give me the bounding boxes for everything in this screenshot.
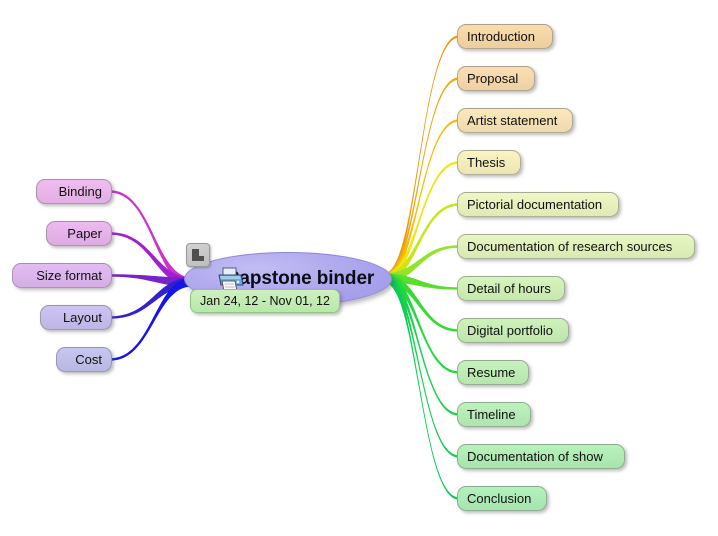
note-corner-glyph bbox=[191, 248, 205, 262]
branch-connector bbox=[110, 190, 192, 286]
branch-node-left[interactable]: Binding bbox=[36, 179, 112, 204]
branch-connector bbox=[384, 274, 459, 374]
branch-connector bbox=[384, 77, 459, 282]
branch-connector bbox=[384, 203, 459, 282]
branch-connector bbox=[110, 232, 192, 286]
branch-node-label: Layout bbox=[63, 311, 102, 324]
branch-node-left[interactable]: Cost bbox=[56, 347, 112, 372]
mindmap-canvas: Capstone binder Jan 24, 12 - Nov 01, 12 … bbox=[0, 0, 718, 536]
branch-connector bbox=[384, 274, 459, 416]
branch-node-label: Resume bbox=[467, 366, 515, 379]
branch-node-left[interactable]: Paper bbox=[46, 221, 112, 246]
branch-connector bbox=[110, 278, 192, 319]
printer-icon bbox=[215, 265, 245, 292]
branch-node-label: Size format bbox=[36, 269, 102, 282]
branch-node-right[interactable]: Documentation of show bbox=[457, 444, 625, 469]
branch-node-label: Pictorial documentation bbox=[467, 198, 602, 211]
branch-node-right[interactable]: Pictorial documentation bbox=[457, 192, 619, 217]
branch-connector bbox=[384, 35, 459, 282]
branch-connector bbox=[384, 274, 459, 332]
branch-node-label: Introduction bbox=[467, 30, 535, 43]
note-badge-icon[interactable] bbox=[186, 243, 210, 267]
branch-node-right[interactable]: Artist statement bbox=[457, 108, 573, 133]
branch-node-label: Documentation of show bbox=[467, 450, 603, 463]
branch-node-label: Conclusion bbox=[467, 492, 531, 505]
branch-node-label: Proposal bbox=[467, 72, 518, 85]
branch-node-label: Thesis bbox=[467, 156, 505, 169]
branch-connector bbox=[110, 278, 192, 361]
branch-node-label: Documentation of research sources bbox=[467, 240, 672, 253]
branch-connector bbox=[384, 274, 459, 500]
branch-node-label: Detail of hours bbox=[467, 282, 551, 295]
branch-node-right[interactable]: Conclusion bbox=[457, 486, 547, 511]
branch-node-right[interactable]: Detail of hours bbox=[457, 276, 565, 301]
branch-connector bbox=[384, 274, 459, 458]
central-node-title: Capstone binder bbox=[226, 268, 374, 290]
branch-node-label: Timeline bbox=[467, 408, 516, 421]
branch-connector bbox=[384, 161, 459, 282]
branch-node-right[interactable]: Thesis bbox=[457, 150, 521, 175]
branch-node-left[interactable]: Size format bbox=[12, 263, 112, 288]
branch-node-label: Binding bbox=[59, 185, 102, 198]
branch-node-label: Cost bbox=[75, 353, 102, 366]
branch-node-right[interactable]: Proposal bbox=[457, 66, 535, 91]
branch-connector bbox=[384, 245, 459, 282]
branch-node-right[interactable]: Resume bbox=[457, 360, 529, 385]
branch-node-right[interactable]: Documentation of research sources bbox=[457, 234, 695, 259]
branch-node-right[interactable]: Introduction bbox=[457, 24, 553, 49]
central-date-label[interactable]: Jan 24, 12 - Nov 01, 12 bbox=[190, 289, 340, 313]
branch-node-left[interactable]: Layout bbox=[40, 305, 112, 330]
branch-node-label: Artist statement bbox=[467, 114, 557, 127]
branch-node-right[interactable]: Timeline bbox=[457, 402, 531, 427]
branch-connector bbox=[384, 119, 459, 282]
branch-node-right[interactable]: Digital portfolio bbox=[457, 318, 569, 343]
branch-connector bbox=[384, 274, 459, 290]
branch-connector bbox=[110, 274, 192, 286]
branch-node-label: Paper bbox=[67, 227, 102, 240]
branch-node-label: Digital portfolio bbox=[467, 324, 553, 337]
